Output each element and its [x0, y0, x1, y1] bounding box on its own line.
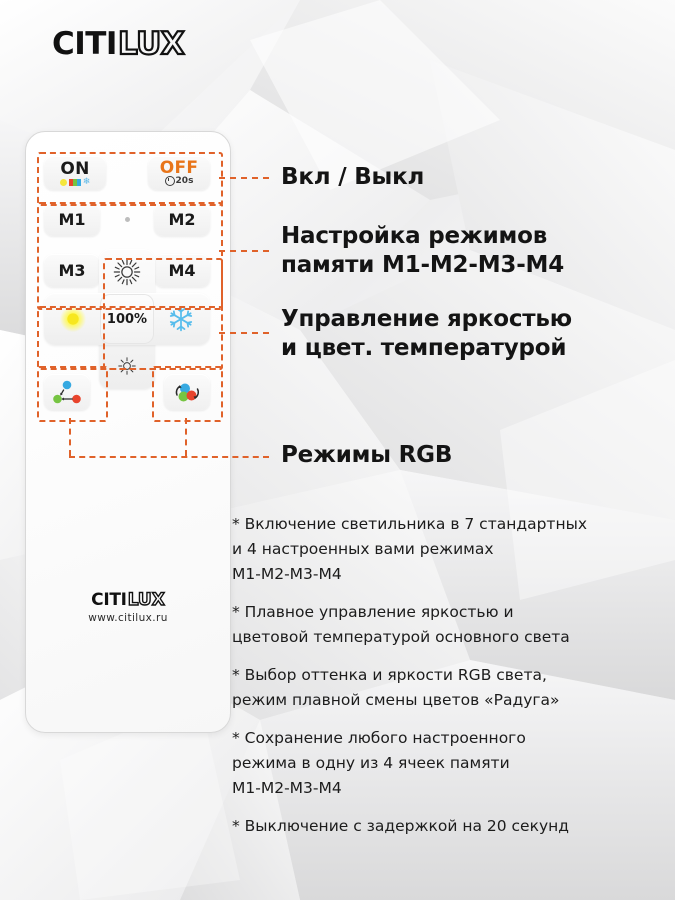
power-on-button[interactable]: ON ❄ [44, 156, 106, 190]
product-infographic-page: CITI LUX ON ❄ OFF 20s M1 M2 M3 [0, 0, 675, 900]
power-on-mode-icons: ❄ [60, 179, 91, 186]
note-item: * Выбор оттенка и яркости RGB света, реж… [232, 663, 662, 713]
note-item: * Включение светильника в 7 стандартных … [232, 512, 662, 587]
callout-label-rgb: Режимы RGB [281, 441, 452, 470]
power-off-label: OFF [160, 160, 199, 177]
ir-indicator-dot [125, 217, 130, 222]
brightness-down-sun-icon [115, 354, 139, 378]
full-brightness-button[interactable]: 100% [100, 294, 154, 344]
callout-label-dpad: Управление яркостью и цвет. температурой [281, 305, 572, 363]
connector-power [219, 177, 269, 179]
remote-logo-lux-text: LUX [128, 590, 165, 610]
memory-button-m1[interactable]: M1 [44, 203, 100, 236]
rgb-icon [69, 179, 81, 186]
remote-logo-citi-text: CITI [91, 590, 127, 610]
logo-citi-text: CITI [52, 26, 117, 62]
memory-button-m2[interactable]: M2 [154, 203, 210, 236]
brightness-down-button[interactable] [99, 345, 155, 387]
power-on-label: ON [60, 161, 89, 178]
remote-control-body: ON ❄ OFF 20s M1 M2 M3 M4 [25, 131, 231, 733]
remote-website-text: www.citilux.ru [26, 612, 230, 624]
connector-dpad [219, 332, 269, 334]
note-item: * Сохранение любого настроенного режима … [232, 726, 662, 801]
clock-icon [165, 176, 175, 186]
snowflake-cold-icon [167, 305, 195, 333]
dpad-cluster: 100% [44, 249, 210, 389]
note-item: * Плавное управление яркостью и цветовой… [232, 600, 662, 650]
rgb-color-select-button[interactable] [44, 374, 90, 410]
note-item: * Выключение с задержкой на 20 секунд [232, 814, 662, 839]
rgb-color-select-icon [51, 379, 83, 405]
warm-light-icon [60, 179, 67, 186]
snowflake-icon: ❄ [83, 179, 91, 186]
connector-memory [219, 250, 269, 252]
logo-lux-text: LUX [118, 26, 184, 62]
feature-notes-list: * Включение светильника в 7 стандартных … [232, 512, 662, 852]
power-off-timer-label: 20s [176, 176, 194, 186]
brand-logo: CITI LUX [52, 26, 184, 62]
rgb-rainbow-button[interactable] [164, 374, 210, 410]
warm-sun-icon [59, 305, 87, 333]
power-off-button[interactable]: OFF 20s [148, 156, 210, 190]
connector-rgb-bracket [69, 456, 269, 458]
brightness-up-sun-icon [112, 257, 142, 287]
rgb-rainbow-cycle-icon [171, 379, 203, 405]
brightness-up-button[interactable] [99, 251, 155, 293]
remote-footer-brand: CITI LUX www.citilux.ru [26, 590, 230, 624]
connector-rgb-left-down [69, 418, 71, 456]
warm-light-button[interactable] [48, 293, 98, 345]
callout-label-power: Вкл / Выкл [281, 163, 424, 192]
power-off-timer: 20s [165, 176, 194, 186]
callout-label-memory: Настройка режимов памяти M1-M2-M3-M4 [281, 222, 564, 280]
connector-rgb-right-down [185, 418, 187, 456]
cold-light-button[interactable] [156, 293, 206, 345]
